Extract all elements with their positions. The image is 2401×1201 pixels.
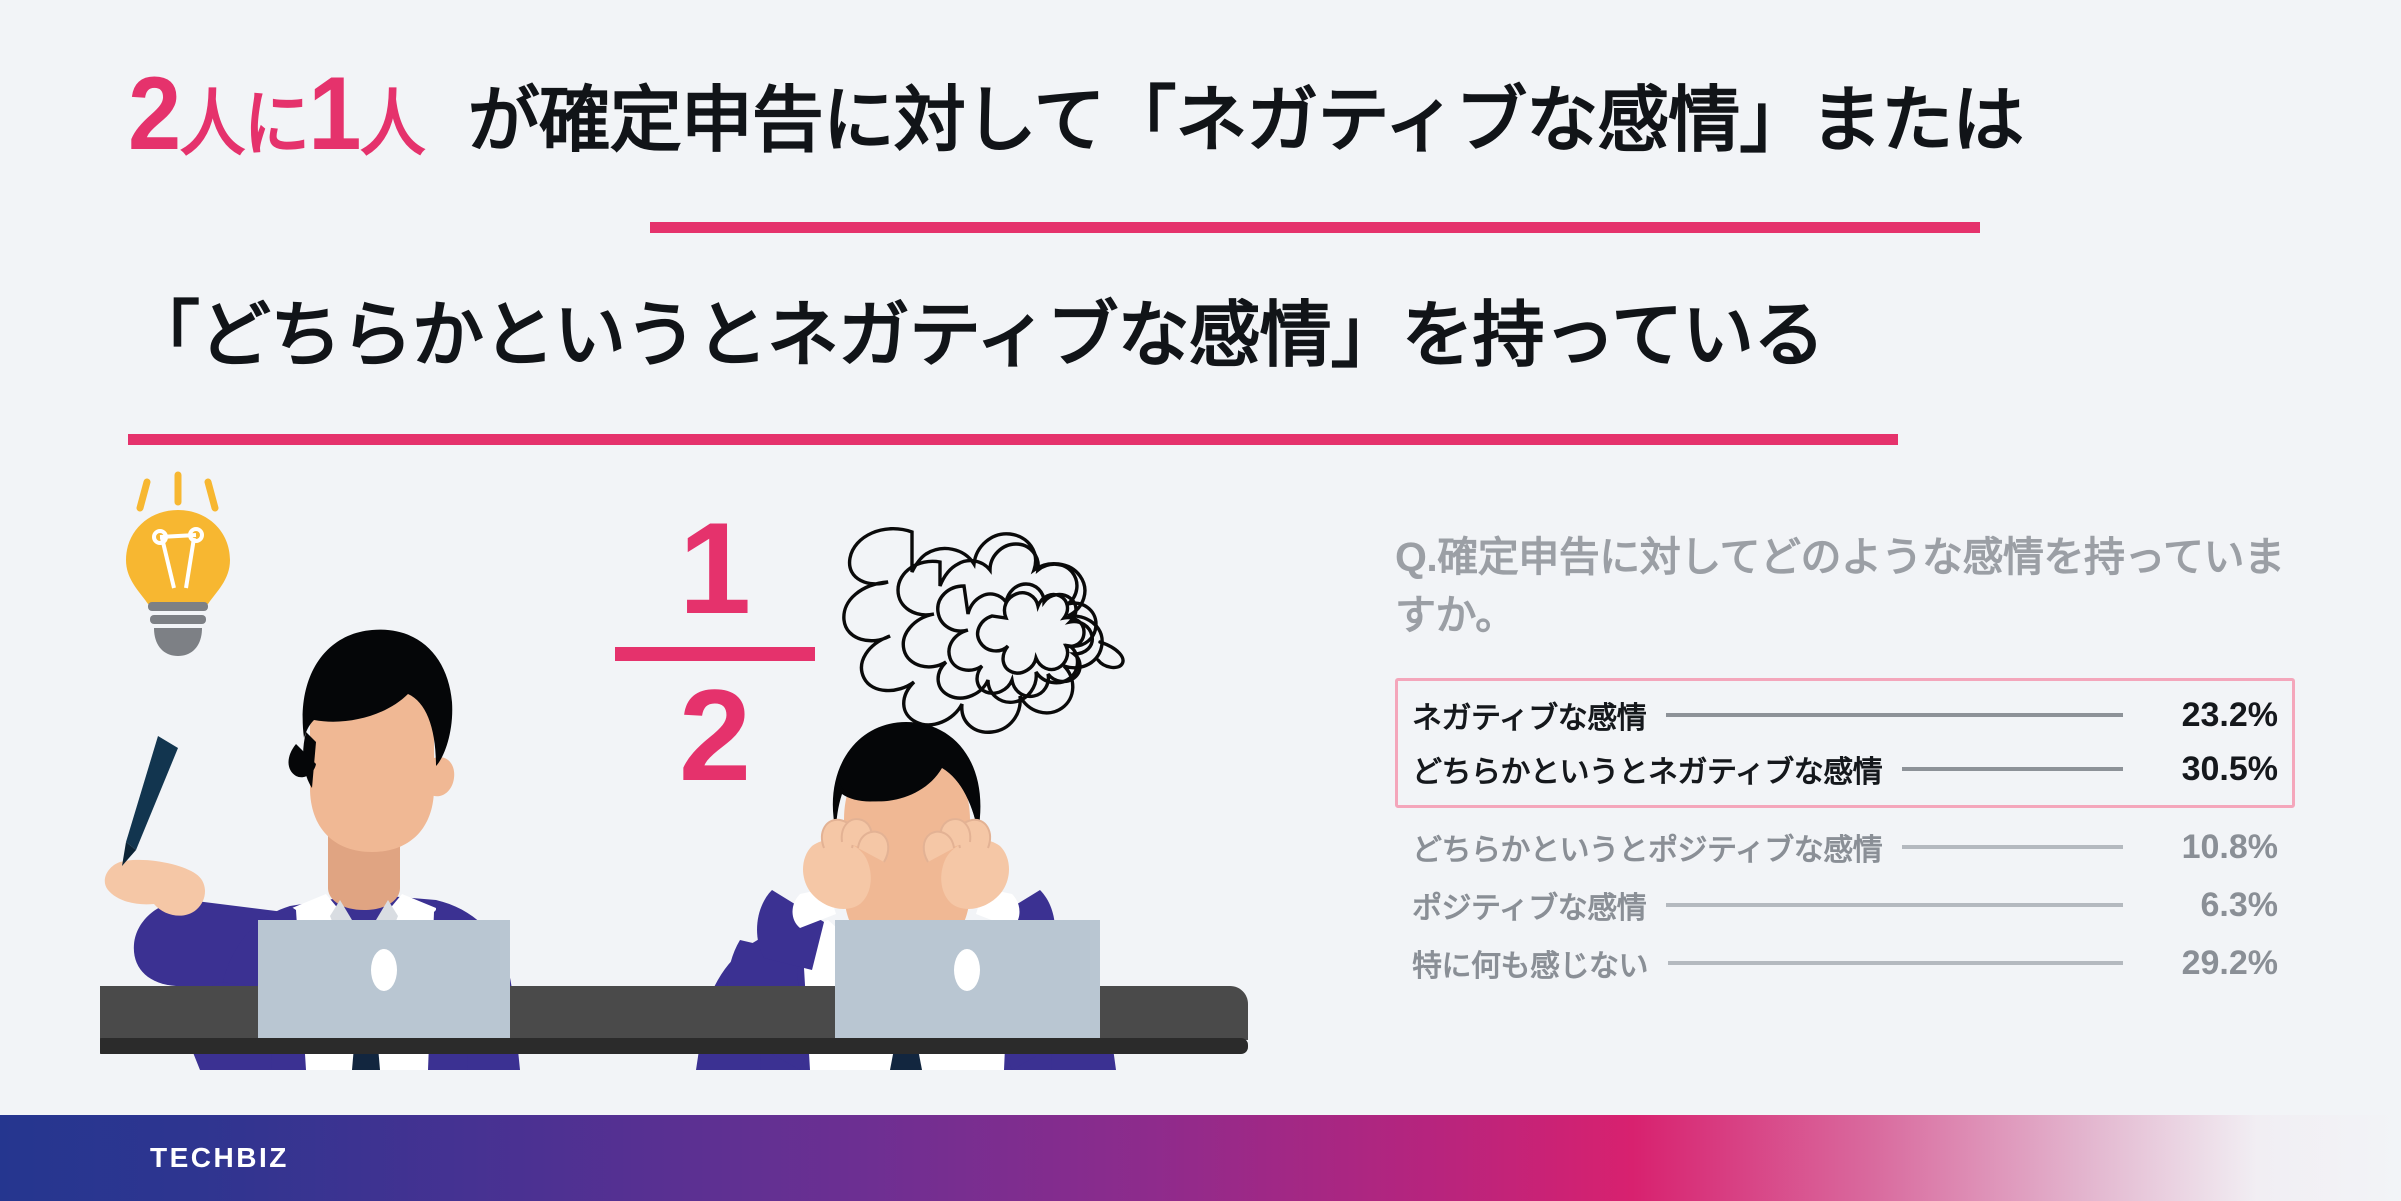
headline-line-1: 2人に1人 が確定申告に対して「ネガティブな感情」または (128, 62, 2023, 166)
result-value: 6.3% (2143, 886, 2278, 925)
headline-underline-2 (128, 434, 1898, 445)
survey-panel: Q.確定申告に対してどのような感情を持っていますか。 ネガティブな感情 23.2… (1395, 528, 2295, 992)
scribble-cloud-icon (844, 529, 1123, 733)
lightbulb-icon (126, 475, 230, 656)
table-row: どちらかというとネガティブな感情 30.5% (1412, 742, 2278, 796)
fraction-one-half: 1 2 (615, 500, 815, 803)
headline-emphasis: 2人に1人 (128, 62, 424, 166)
headline-line-2: 「どちらかというとネガティブな感情」を持っている (128, 300, 1824, 372)
survey-question: Q.確定申告に対してどのような感情を持っていますか。 (1395, 528, 2295, 644)
result-label: どちらかというとポジティブな感情 (1412, 825, 1882, 869)
headline-line-1-rest: が確定申告に対して「ネガティブな感情」または (468, 85, 2024, 157)
infographic-canvas: 2人に1人 が確定申告に対して「ネガティブな感情」または 「どちらかというとネガ… (0, 0, 2401, 1201)
result-value: 30.5% (2143, 750, 2278, 789)
survey-results: ネガティブな感情 23.2% どちらかというとネガティブな感情 30.5% どち… (1395, 678, 2295, 992)
result-label: ネガティブな感情 (1412, 693, 1646, 737)
table-row: どちらかというとポジティブな感情 10.8% (1412, 818, 2278, 876)
fraction-denominator: 2 (615, 667, 815, 804)
footer-bar: TECHBIZ (0, 1115, 2401, 1201)
table-row: ポジティブな感情 6.3% (1412, 876, 2278, 934)
headline-underline-1 (650, 222, 1980, 233)
table-row: 特に何も感じない 29.2% (1412, 934, 2278, 992)
leader-line (1666, 903, 2123, 907)
laptop (835, 920, 1100, 1038)
table-row: ネガティブな感情 23.2% (1412, 688, 2278, 742)
fraction-bar (615, 647, 815, 661)
leader-line (1668, 961, 2123, 965)
leader-line (1902, 845, 2123, 849)
highlighted-results-box: ネガティブな感情 23.2% どちらかというとネガティブな感情 30.5% (1395, 678, 2295, 808)
other-results: どちらかというとポジティブな感情 10.8% ポジティブな感情 6.3% 特に何… (1395, 818, 2295, 992)
leader-line (1902, 767, 2123, 771)
result-value: 23.2% (2143, 696, 2278, 735)
result-value: 29.2% (2143, 944, 2278, 983)
result-label: ポジティブな感情 (1412, 883, 1646, 927)
result-label: 特に何も感じない (1412, 941, 1648, 985)
laptop (258, 920, 510, 1038)
brand-logo: TECHBIZ (150, 1142, 289, 1174)
result-value: 10.8% (2143, 828, 2278, 867)
fraction-numerator: 1 (615, 500, 815, 637)
leader-line (1666, 713, 2123, 717)
result-label: どちらかというとネガティブな感情 (1412, 747, 1882, 791)
